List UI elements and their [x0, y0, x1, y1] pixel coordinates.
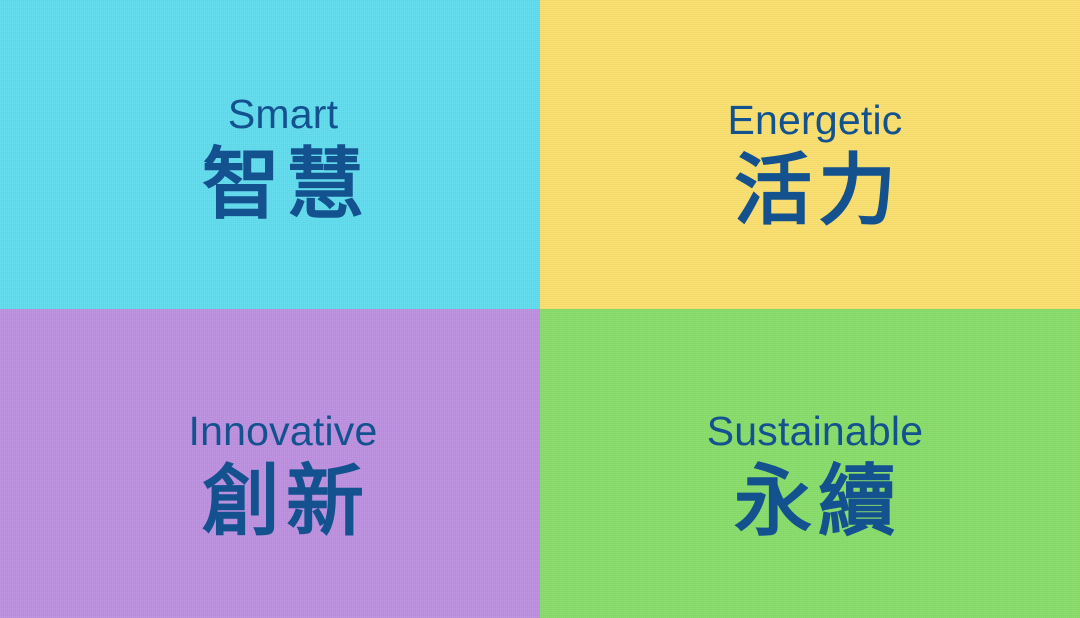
panel-energetic-english-label: Energetic — [550, 100, 1080, 141]
panel-smart-text-block: Smart 智慧 — [0, 94, 540, 225]
panel-innovative-chinese-label: 創新 — [32, 462, 540, 542]
panel-energetic-text-block: Energetic 活力 — [540, 100, 1080, 231]
panel-smart-english-label: Smart — [26, 94, 540, 135]
panel-sustainable-text-block: Sustainable 永續 — [540, 411, 1080, 542]
panel-innovative[interactable]: Innovative 創新 — [0, 309, 540, 618]
panel-sustainable-english-label: Sustainable — [550, 411, 1080, 452]
panel-sustainable-chinese-label: 永續 — [556, 462, 1080, 542]
panel-sustainable[interactable]: Sustainable 永續 — [540, 309, 1080, 618]
panel-smart-chinese-label: 智慧 — [32, 145, 540, 225]
panel-innovative-text-block: Innovative 創新 — [0, 411, 540, 542]
brand-values-grid: Smart 智慧 Energetic 活力 Innovative 創新 Sust… — [0, 0, 1080, 618]
panel-innovative-english-label: Innovative — [26, 411, 540, 452]
panel-smart[interactable]: Smart 智慧 — [0, 0, 540, 309]
panel-energetic[interactable]: Energetic 活力 — [540, 0, 1080, 309]
panel-energetic-chinese-label: 活力 — [556, 151, 1080, 231]
